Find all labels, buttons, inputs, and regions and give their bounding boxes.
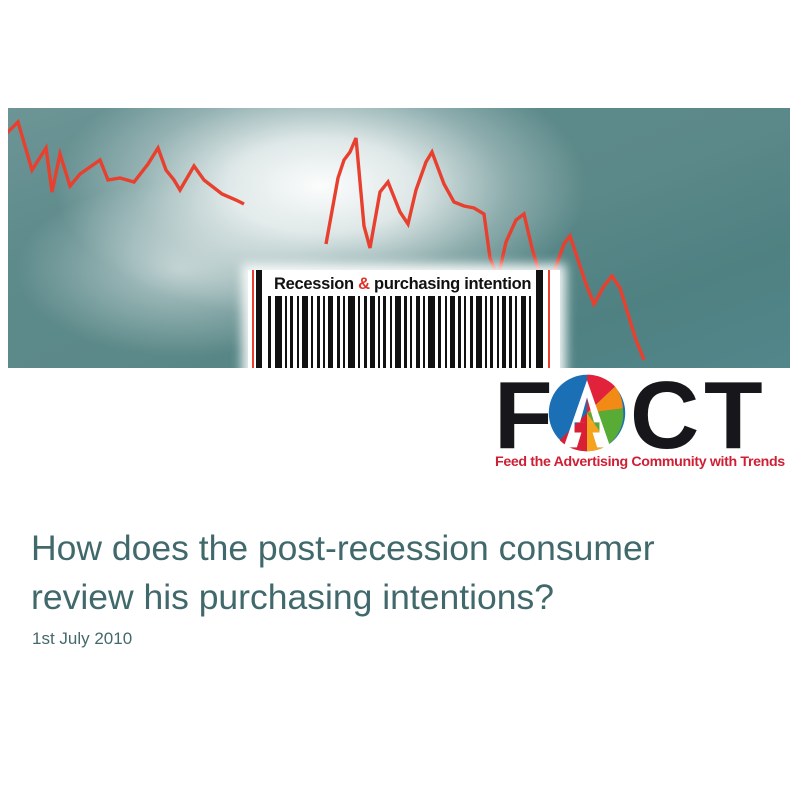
page-date: 1st July 2010 (32, 629, 132, 649)
barcode-graphic: Recession & purchasing intention (248, 270, 560, 368)
barcode-bar (416, 296, 420, 368)
barcode-bar (515, 296, 517, 368)
barcode-bar (438, 296, 441, 368)
fact-logo: F (492, 372, 792, 480)
page-title-line-1: How does the post-recession consumer (31, 524, 761, 573)
barcode-bar (370, 296, 375, 368)
barcode-bar (337, 296, 340, 368)
barcode-bar (290, 296, 293, 368)
barcode-bar (529, 296, 531, 368)
barcode-bar (470, 296, 473, 368)
barcode-guard-extension (536, 270, 543, 298)
barcode-bar (302, 296, 308, 368)
barcode-label: Recession & purchasing intention (274, 272, 544, 296)
barcode-bar (383, 296, 386, 368)
barcode-bar (378, 296, 380, 368)
page-title-line-2: review his purchasing intentions? (31, 573, 761, 622)
barcode-bar (268, 296, 271, 368)
barcode-bar (323, 296, 325, 368)
barcode-bar (536, 296, 543, 368)
barcode-bar (423, 296, 425, 368)
barcode-bar (317, 296, 320, 368)
barcode-bar (464, 296, 466, 368)
barcode-bar (256, 296, 262, 368)
barcode-bar (428, 296, 435, 368)
fact-logo-wordmark: F (492, 372, 792, 454)
barcode-bar (458, 296, 461, 368)
barcode-bar (343, 296, 345, 368)
barcode-bar (311, 296, 313, 368)
barcode-label-ampersand: & (358, 275, 370, 293)
barcode-bar (297, 296, 299, 368)
barcode-bar (348, 296, 355, 368)
barcode-bar (502, 296, 506, 368)
barcode-bars (248, 296, 560, 368)
barcode-bar (476, 296, 482, 368)
barcode-bar (390, 296, 392, 368)
barcode-bar (328, 296, 333, 368)
logo-tagline: Feed the Advertising Community with Tren… (495, 454, 793, 470)
barcode-bar (410, 296, 412, 368)
barcode-red-guide (548, 296, 550, 368)
barcode-red-guide-extension (548, 270, 550, 298)
barcode-bar (445, 296, 447, 368)
page-title: How does the post-recession consumer rev… (31, 524, 761, 622)
barcode-label-prefix: Recession (274, 275, 358, 293)
logo-letter-c: C (630, 368, 696, 464)
barcode-bar (485, 296, 487, 368)
barcode-bar (450, 296, 455, 368)
barcode-bar (395, 296, 401, 368)
barcode-bar (509, 296, 512, 368)
hero-banner-image: Recession & purchasing intention (8, 108, 790, 368)
barcode-bar (404, 296, 407, 368)
barcode-bar (521, 296, 526, 368)
barcode-red-guide (252, 296, 254, 368)
barcode-bar (358, 296, 360, 368)
barcode-bar (490, 296, 493, 368)
barcode-red-guide-extension (252, 270, 254, 298)
barcode-guard-extension (256, 270, 262, 298)
barcode-bar (497, 296, 499, 368)
barcode-label-suffix: purchasing intention (370, 275, 531, 293)
barcode-bar (364, 296, 367, 368)
logo-letter-a-icon (548, 374, 626, 452)
logo-letter-f: F (494, 368, 550, 464)
barcode-bar (275, 296, 282, 368)
logo-letter-t: T (704, 368, 760, 464)
barcode-bar (285, 296, 287, 368)
